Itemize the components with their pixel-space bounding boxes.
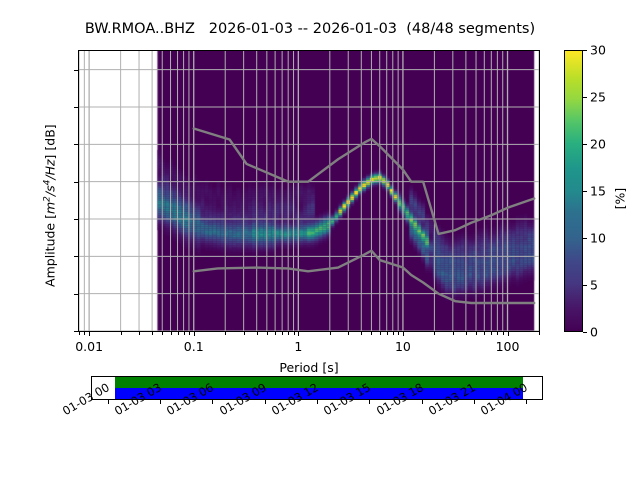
- x-tick-mark-minor: [434, 332, 435, 335]
- timeline-tick-mark: [265, 400, 266, 404]
- x-tick-label: 10: [368, 339, 438, 354]
- y-tick-mark: [74, 182, 78, 183]
- timeline-tick-mark: [212, 400, 213, 404]
- x-tick-mark-minor: [288, 332, 289, 335]
- timeline-tick-mark: [369, 400, 370, 404]
- x-tick-mark-minor: [380, 332, 381, 335]
- x-tick-mark-minor: [348, 332, 349, 335]
- colorbar-label: [%]: [613, 139, 628, 259]
- x-axis-label: Period [s]: [78, 360, 540, 375]
- x-tick-label: 0.1: [159, 339, 229, 354]
- x-tick-mark-major: [298, 332, 299, 336]
- timeline-tick-mark: [526, 400, 527, 404]
- x-tick-mark-major: [194, 332, 195, 336]
- colorbar-tick-label: 25: [590, 90, 606, 105]
- x-tick-label: 1: [263, 339, 333, 354]
- x-tick-mark-minor: [225, 332, 226, 335]
- x-tick-mark-minor: [79, 332, 80, 335]
- x-tick-mark-minor: [466, 332, 467, 335]
- y-tick-mark: [74, 219, 78, 220]
- colorbar-tick-label: 10: [590, 231, 606, 246]
- y-tick-mark: [74, 144, 78, 145]
- x-tick-mark-minor: [139, 332, 140, 335]
- colorbar-tick-label: 0: [590, 325, 598, 340]
- x-tick-mark-minor: [503, 332, 504, 335]
- colorbar-tick-mark: [583, 285, 587, 286]
- timeline-tick-mark: [422, 400, 423, 404]
- x-tick-mark-major: [508, 332, 509, 336]
- x-tick-mark-minor: [189, 332, 190, 335]
- timeline-tick-mark: [108, 400, 109, 404]
- colorbar[interactable]: [564, 50, 583, 332]
- x-tick-mark-minor: [282, 332, 283, 335]
- x-tick-mark-minor: [361, 332, 362, 335]
- x-tick-mark-minor: [398, 332, 399, 335]
- colorbar-tick-label: 5: [590, 278, 598, 293]
- x-tick-mark-minor: [171, 332, 172, 335]
- x-tick-mark-minor: [330, 332, 331, 335]
- x-tick-mark-minor: [84, 332, 85, 335]
- colorbar-tick-label: 15: [590, 184, 606, 199]
- x-tick-mark-minor: [121, 332, 122, 335]
- x-tick-mark-major: [403, 332, 404, 336]
- y-tick-mark: [74, 331, 78, 332]
- x-tick-mark-minor: [162, 332, 163, 335]
- colorbar-tick-label: 30: [590, 43, 606, 58]
- x-tick-mark-minor: [393, 332, 394, 335]
- x-tick-mark-minor: [257, 332, 258, 335]
- x-tick-mark-minor: [497, 332, 498, 335]
- x-tick-mark-minor: [178, 332, 179, 335]
- x-tick-mark-minor: [244, 332, 245, 335]
- x-tick-mark-major: [89, 332, 90, 336]
- colorbar-tick-mark: [583, 332, 587, 333]
- x-tick-mark-minor: [152, 332, 153, 335]
- x-tick-mark-minor: [491, 332, 492, 335]
- y-axis-label: Amplitude [m2/s4/Hz] [dB]: [27, 54, 72, 374]
- x-tick-label: 100: [473, 339, 543, 354]
- y-tick-mark: [74, 107, 78, 108]
- x-tick-mark-minor: [294, 332, 295, 335]
- y-axis-label-text: Amplitude [m2/s4/Hz] [dB]: [43, 124, 58, 287]
- timeline-tick-mark: [317, 400, 318, 404]
- plot-title: BW.RMOA..BHZ 2026-01-03 -- 2026-01-03 (4…: [0, 21, 620, 37]
- y-tick-mark: [74, 70, 78, 71]
- colorbar-tick-mark: [583, 97, 587, 98]
- x-tick-mark-minor: [539, 332, 540, 335]
- ppsd-figure: BW.RMOA..BHZ 2026-01-03 -- 2026-01-03 (4…: [0, 0, 640, 480]
- colorbar-tick-mark: [583, 238, 587, 239]
- ppsd-plot-area[interactable]: [78, 50, 540, 332]
- x-tick-mark-minor: [484, 332, 485, 335]
- colorbar-tick-mark: [583, 50, 587, 51]
- timeline-tick-mark: [160, 400, 161, 404]
- colorbar-tick-mark: [583, 191, 587, 192]
- x-tick-mark-minor: [267, 332, 268, 335]
- noise-model-curves: [79, 51, 539, 331]
- x-tick-mark-minor: [453, 332, 454, 335]
- colorbar-tick-label: 20: [590, 137, 606, 152]
- timeline-tick-mark: [474, 400, 475, 404]
- x-tick-mark-minor: [184, 332, 185, 335]
- x-tick-mark-minor: [371, 332, 372, 335]
- y-tick-mark: [74, 256, 78, 257]
- y-tick-mark: [74, 294, 78, 295]
- x-tick-mark-minor: [387, 332, 388, 335]
- x-tick-mark-minor: [476, 332, 477, 335]
- x-tick-mark-minor: [275, 332, 276, 335]
- colorbar-tick-mark: [583, 144, 587, 145]
